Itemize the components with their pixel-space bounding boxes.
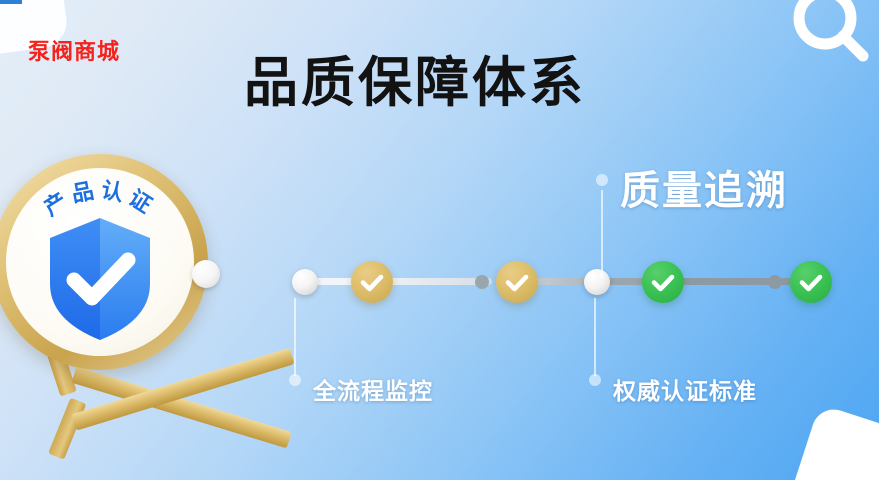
callout-dot-standard xyxy=(589,374,601,386)
timeline-sphere-start xyxy=(292,269,318,295)
timeline-dot-1 xyxy=(475,275,489,289)
badge-gold-ring: 产品认证 xyxy=(0,154,208,370)
timeline-check-node-gold-1 xyxy=(351,261,393,303)
callout-label-authoritative-standard: 权威认证标准 xyxy=(613,372,757,406)
poster-canvas: 泵阀商城 品质保障体系 产品认证 xyxy=(0,0,879,480)
site-watermark: 泵阀商城 xyxy=(28,41,120,63)
timeline-check-node-gold-2 xyxy=(496,261,538,303)
timeline-segment-3 xyxy=(508,278,604,285)
badge-connector-sphere xyxy=(192,260,220,288)
search-icon xyxy=(779,0,871,70)
timeline-dot-2 xyxy=(768,275,782,289)
callout-dot-monitor xyxy=(289,374,301,386)
timeline-segment-2 xyxy=(362,278,492,285)
timeline-segment-5 xyxy=(654,278,814,285)
check-icon xyxy=(642,261,684,303)
callout-stem-traceability xyxy=(601,190,603,278)
page-title: 品质保障体系 xyxy=(244,54,586,113)
timeline-check-node-green-1 xyxy=(642,261,684,303)
timeline-segment-1 xyxy=(310,278,382,285)
timeline-sphere-mid xyxy=(584,269,610,295)
callout-dot-traceability xyxy=(596,174,608,186)
product-certification-badge: 产品认证 xyxy=(0,148,228,380)
shield-check-icon xyxy=(46,216,154,342)
check-icon xyxy=(496,261,538,303)
timeline-check-node-green-2 xyxy=(790,261,832,303)
check-icon xyxy=(790,261,832,303)
top-left-accent-bar xyxy=(0,0,22,4)
check-icon xyxy=(351,261,393,303)
callout-label-full-process-monitor: 全流程监控 xyxy=(313,372,433,406)
callout-label-quality-traceability: 质量追溯 xyxy=(620,158,788,216)
callout-stem-standard xyxy=(594,298,596,376)
callout-stem-monitor xyxy=(294,298,296,376)
timeline-segment-4 xyxy=(590,278,676,285)
